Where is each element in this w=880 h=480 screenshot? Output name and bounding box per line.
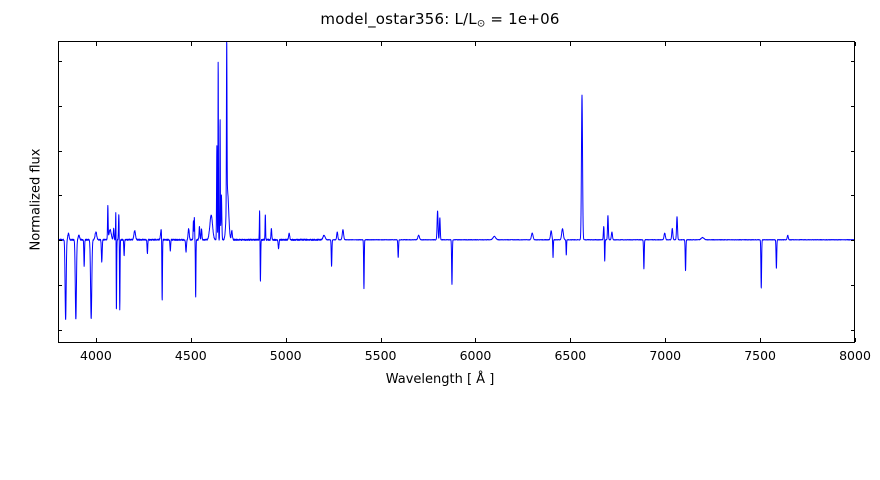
y-tick-mark-right <box>851 61 855 62</box>
x-tick-label: 7500 <box>744 348 776 363</box>
x-tick-label: 7000 <box>649 348 681 363</box>
x-tick-mark <box>475 338 476 342</box>
y-tick-mark <box>58 240 62 241</box>
y-tick-mark-right <box>851 106 855 107</box>
x-tick-label: 4000 <box>80 348 112 363</box>
x-tick-mark-top <box>191 42 192 46</box>
x-tick-mark <box>570 338 571 342</box>
x-tick-mark-top <box>570 42 571 46</box>
y-tick-mark-right <box>851 240 855 241</box>
figure-canvas: model_ostar356: L/L⊙ = 1e+06 0.60.81.01.… <box>0 0 880 400</box>
x-tick-mark-top <box>760 42 761 46</box>
x-tick-label: 6000 <box>460 348 492 363</box>
chart-title-prefix: model_ostar356: L/L <box>320 10 476 28</box>
y-tick-mark <box>58 151 62 152</box>
y-tick-mark-right <box>851 151 855 152</box>
x-tick-mark <box>381 338 382 342</box>
x-tick-mark-top <box>381 42 382 46</box>
x-tick-mark <box>665 338 666 342</box>
chart-title: model_ostar356: L/L⊙ = 1e+06 <box>0 10 880 30</box>
x-tick-mark <box>855 338 856 342</box>
x-tick-mark <box>191 338 192 342</box>
x-tick-mark <box>760 338 761 342</box>
x-tick-label: 8000 <box>839 348 871 363</box>
x-axis-label: Wavelength [ Å ] <box>0 372 880 387</box>
spectrum-line <box>59 42 854 319</box>
x-tick-label: 4500 <box>175 348 207 363</box>
x-tick-label: 5000 <box>270 348 302 363</box>
y-tick-mark <box>58 106 62 107</box>
x-tick-mark-top <box>96 42 97 46</box>
y-tick-mark <box>58 330 62 331</box>
x-tick-label: 5500 <box>365 348 397 363</box>
y-tick-mark <box>58 61 62 62</box>
x-tick-mark-top <box>475 42 476 46</box>
x-tick-mark-top <box>855 42 856 46</box>
x-tick-mark <box>96 338 97 342</box>
y-tick-mark <box>58 195 62 196</box>
x-tick-mark-top <box>665 42 666 46</box>
y-tick-mark-right <box>851 285 855 286</box>
y-tick-mark-right <box>851 195 855 196</box>
x-tick-mark-top <box>286 42 287 46</box>
plot-axes <box>58 41 855 343</box>
x-tick-label: 6500 <box>554 348 586 363</box>
y-axis-label: Normalized flux <box>29 0 44 480</box>
y-tick-mark-right <box>851 330 855 331</box>
x-tick-mark <box>286 338 287 342</box>
spectrum-plot-area <box>59 42 854 342</box>
y-tick-mark <box>58 285 62 286</box>
chart-title-suffix: = 1e+06 <box>485 10 559 28</box>
